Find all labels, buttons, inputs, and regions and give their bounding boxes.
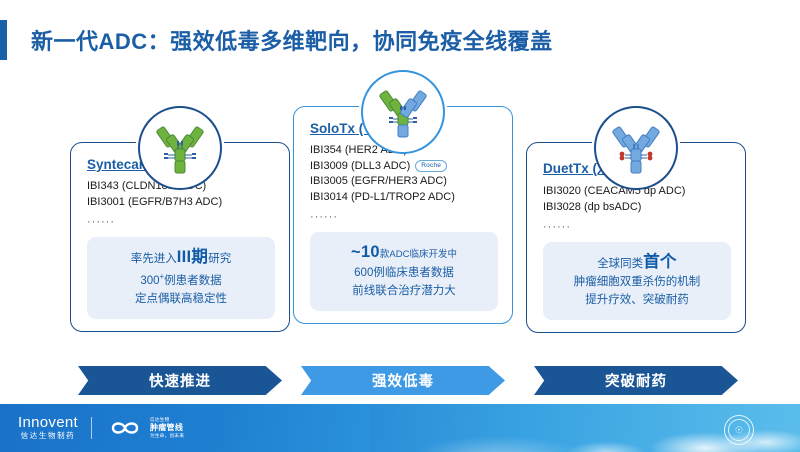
infinity-icon (105, 418, 145, 438)
footer-bar: ☉ Innovent 信达生物制药 信达生物 肿瘤管线 为生命，创未来 (0, 404, 800, 452)
highlight-line-2: 肿瘤细胞双重杀伤的机制 (551, 273, 723, 291)
highlight-line-3: 定点偶联高稳定性 (95, 290, 267, 308)
highlight-line-1: 全球同类首个 (551, 253, 723, 273)
banner-potent-low-tox: 强效低毒 (301, 366, 505, 395)
highlight-emphasis: III期 (177, 248, 208, 266)
highlight-prefix: 全球同类 (597, 258, 643, 270)
molecule-label: IBI3020 (CEACAM5 dp ADC) (543, 184, 685, 200)
molecule-label: IBI3005 (EGFR/HER3 ADC) (310, 174, 447, 190)
highlight-line-3: 前线联合治疗潜力大 (318, 282, 490, 300)
highlight-prefix: 率先进入 (131, 253, 177, 265)
antibody-green-icon (138, 106, 222, 190)
partner-badge-roche: Roche (415, 160, 447, 172)
title-accent-bar (0, 20, 7, 60)
footer-divider (91, 417, 92, 439)
molecule-label: IBI3014 (PD-L1/TROP2 ADC) (310, 190, 455, 206)
list-item: IBI3005 (EGFR/HER3 ADC) (310, 174, 498, 190)
list-item: IBI3028 (dp bsADC) (543, 200, 731, 216)
brand-name: Innovent (18, 415, 78, 431)
columns-board: SyntecanE (Topo1i) IBI343 (CLDN18.2 ADC)… (0, 70, 800, 395)
list-ellipsis: ······ (310, 211, 498, 223)
highlight-emphasis: 首个 (643, 253, 677, 271)
banner-label: 突破耐药 (605, 370, 667, 391)
innovent-logo: Innovent 信达生物制药 (18, 415, 78, 441)
highlight-suffix: 款ADC临床开发中 (380, 249, 457, 260)
list-item: IBI3009 (DLL3 ADC)Roche (310, 159, 498, 175)
pipeline-main-label: 肿瘤管线 (150, 423, 183, 433)
list-item: IBI3001 (EGFR/B7H3 ADC) (87, 195, 275, 211)
molecule-label: IBI3009 (DLL3 ADC) (310, 159, 410, 175)
banner-overcome-resistance: 突破耐药 (534, 366, 738, 395)
title-text: 新一代ADC：强效低毒多维靶向，协同免疫全线覆盖 (31, 24, 553, 56)
footer-brand: Innovent 信达生物制药 信达生物 肿瘤管线 为生命，创未来 (18, 404, 184, 452)
list-ellipsis: ······ (543, 221, 731, 233)
molecule-label: IBI3028 (dp bsADC) (543, 200, 641, 216)
highlight-line-2: 300+例患者数据 (95, 268, 267, 290)
brand-subtitle: 信达生物制药 (18, 431, 78, 441)
highlight-line-3: 提升疗效、突破耐药 (551, 291, 723, 309)
highlight-line-2: 600例临床患者数据 (318, 264, 490, 282)
highlight-box: 全球同类首个 肿瘤细胞双重杀伤的机制 提升疗效、突破耐药 (543, 242, 731, 320)
seal-watermark-icon: ☉ (724, 415, 754, 445)
banner-label: 快速推进 (149, 370, 211, 391)
pipeline-text: 信达生物 肿瘤管线 为生命，创未来 (150, 417, 184, 439)
antibody-bispecific-icon (361, 70, 445, 154)
highlight-emphasis: ~10 (351, 243, 380, 261)
pipeline-logo: 信达生物 肿瘤管线 为生命，创未来 (105, 417, 184, 439)
antibody-dual-payload-icon (594, 106, 678, 190)
page-title: 新一代ADC：强效低毒多维靶向，协同免疫全线覆盖 (0, 18, 800, 62)
seal-inner-glyph: ☉ (728, 419, 750, 441)
highlight-box: ~10款ADC临床开发中 600例临床患者数据 前线联合治疗潜力大 (310, 232, 498, 311)
list-ellipsis: ······ (87, 216, 275, 228)
highlight-suffix: 研究 (208, 253, 231, 265)
pipeline-slogan: 为生命，创未来 (150, 433, 184, 439)
highlight-line-1: ~10款ADC临床开发中 (318, 243, 490, 264)
banner-fast-advance: 快速推进 (78, 366, 282, 395)
list-item: IBI3014 (PD-L1/TROP2 ADC) (310, 190, 498, 206)
highlight-number: 300 (140, 275, 159, 287)
highlight-unit: 例患者数据 (164, 275, 222, 287)
banner-label: 强效低毒 (372, 370, 434, 391)
highlight-box: 率先进入III期研究 300+例患者数据 定点偶联高稳定性 (87, 237, 275, 319)
highlight-line-1: 率先进入III期研究 (95, 248, 267, 268)
molecule-label: IBI3001 (EGFR/B7H3 ADC) (87, 195, 222, 211)
